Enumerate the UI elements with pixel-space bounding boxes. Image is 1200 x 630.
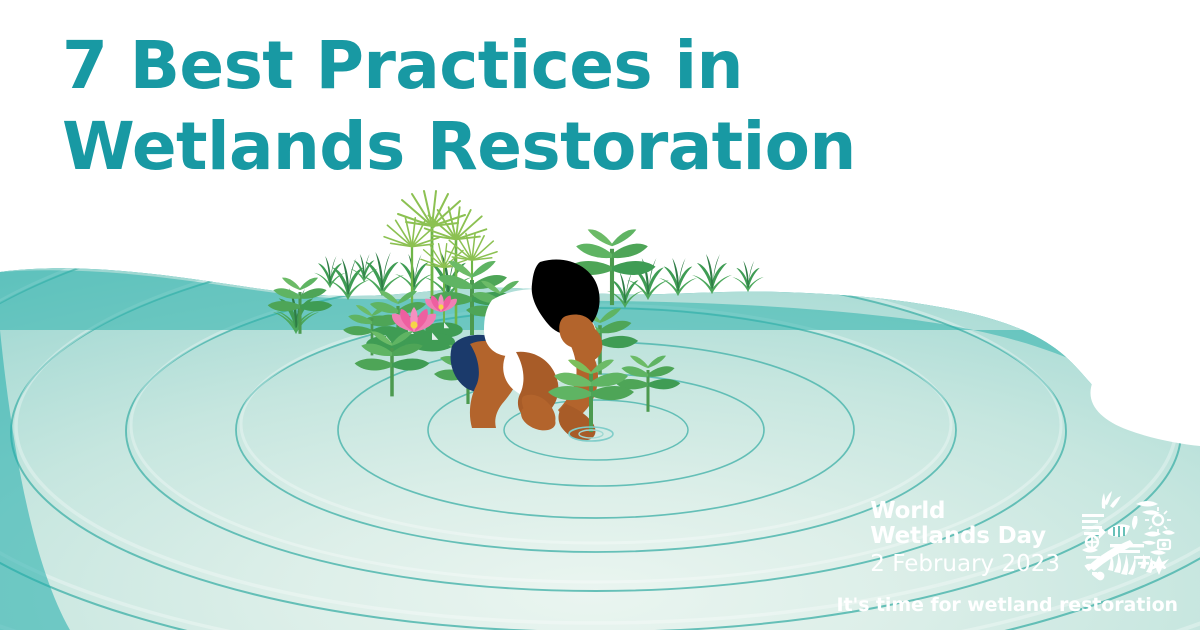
logo-row: World Wetlands Day 2 February 2023 xyxy=(870,486,1178,590)
world-wetlands-day-logo: World Wetlands Day 2 February 2023 xyxy=(837,486,1178,616)
logo-text-block: World Wetlands Day 2 February 2023 xyxy=(870,499,1060,576)
logo-date: 2 February 2023 xyxy=(870,552,1060,577)
poster-canvas: 7 Best Practices in Wetlands Restoration xyxy=(0,0,1200,630)
page-title: 7 Best Practices in Wetlands Restoration xyxy=(62,26,1062,187)
logo-tagline: It's time for wetland restoration xyxy=(837,594,1178,616)
logo-line-2: Wetlands Day xyxy=(870,524,1060,549)
logo-line-1: World xyxy=(870,499,1060,524)
world-wetlands-day-emblem-icon xyxy=(1074,486,1178,590)
